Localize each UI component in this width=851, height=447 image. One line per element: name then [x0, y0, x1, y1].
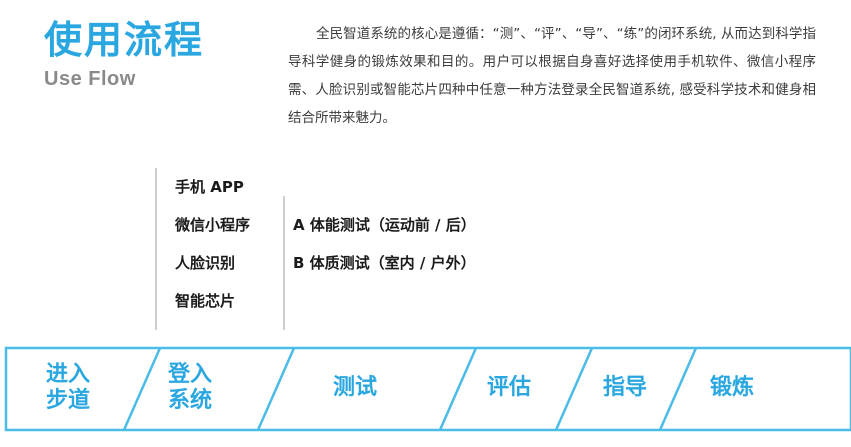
intro-paragraph: 全民智道系统的核心是遵循：“测”、“评”、“导”、“练”的闭环系统, 从而达到科…	[288, 20, 816, 132]
stage-label-6: 锻炼	[710, 375, 754, 401]
page-title-en: Use Flow	[44, 68, 294, 91]
flow-bar: 进入 步道 登入 系统 测试 评估 指导 锻炼	[0, 330, 851, 442]
stage-label-1-line2: 步道	[46, 388, 90, 414]
stage-label-2: 登入 系统	[168, 362, 212, 414]
stage-label-2-line1: 登入	[168, 362, 212, 388]
title-block: 使用流程 Use Flow	[44, 18, 294, 91]
stage-label-2-line2: 系统	[168, 388, 212, 414]
stage-label-4: 评估	[487, 375, 531, 401]
list-item: 微信小程序	[175, 206, 280, 244]
list-item: 智能芯片	[175, 282, 280, 320]
page-title-cn: 使用流程	[44, 18, 294, 62]
list-item: 人脸识别	[175, 244, 280, 282]
list-item: B 体质测试（室内 / 户外）	[293, 244, 523, 282]
list-item: 手机 APP	[175, 168, 280, 206]
stage-label-3: 测试	[333, 375, 377, 401]
stage-label-1: 进入 步道	[46, 362, 90, 414]
list-item: A 体能测试（运动前 / 后）	[293, 206, 523, 244]
test-items-list: A 体能测试（运动前 / 后） B 体质测试（室内 / 户外）	[293, 206, 523, 282]
stage-label-5: 指导	[603, 375, 647, 401]
stage-label-1-line1: 进入	[46, 362, 90, 388]
login-methods-list: 手机 APP 微信小程序 人脸识别 智能芯片	[175, 168, 280, 320]
